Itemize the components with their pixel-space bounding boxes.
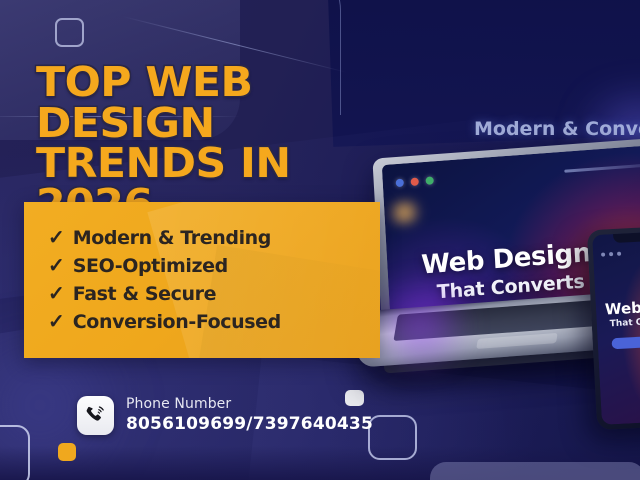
phone-screen-cta — [612, 335, 640, 349]
phone-screen-heading: Web De — [605, 297, 640, 318]
browser-dot-green — [425, 176, 433, 185]
phone-mockup: Web De That Conv — [587, 226, 640, 430]
decorative-square-outline-bottom-right-edge — [0, 425, 30, 480]
contact-block: Phone Number 8056109699/7397640435 — [77, 396, 373, 435]
check-icon: ✓ — [48, 284, 65, 304]
feature-label: Modern & Trending — [73, 229, 271, 249]
list-item: ✓ Conversion-Focused — [48, 312, 380, 333]
phone-screen: Web De That Conv — [592, 231, 640, 425]
clipped-banner-text: Modern & Conver — [474, 118, 640, 140]
headline: TOP WEB DESIGN TRENDS IN 2026 — [36, 62, 396, 224]
phone-dot-2 — [609, 252, 613, 256]
laptop-trackpad — [476, 333, 558, 349]
device-mockup-group: Modern & Conver Web Design That Converts… — [370, 100, 640, 430]
check-icon: ✓ — [48, 228, 65, 248]
decorative-square-outline-top-left — [55, 18, 84, 47]
feature-card: ✓ Modern & Trending ✓ SEO-Optimized ✓ Fa… — [24, 202, 380, 358]
contact-number: 8056109699/7397640435 — [126, 414, 373, 435]
decorative-square-yellow-bottom-left — [58, 443, 76, 461]
phone-notch — [613, 232, 640, 243]
feature-label: Fast & Secure — [73, 285, 216, 305]
check-icon: ✓ — [48, 256, 65, 276]
phone-dot-3 — [617, 252, 621, 256]
feature-label: Conversion-Focused — [73, 313, 281, 333]
phone-screen-subheading: That Conv — [610, 317, 640, 330]
phone-dot-1 — [601, 252, 605, 256]
list-item: ✓ Fast & Secure — [48, 284, 380, 305]
browser-dot-red — [411, 177, 419, 186]
decorative-rounded-panel-bottom-right — [430, 462, 640, 480]
phone-ringing-icon — [77, 396, 114, 435]
contact-label: Phone Number — [126, 396, 373, 414]
list-item: ✓ SEO-Optimized — [48, 256, 380, 277]
browser-nav-line — [564, 164, 640, 173]
check-icon: ✓ — [48, 312, 65, 332]
phone-browser-dots — [601, 252, 621, 257]
list-item: ✓ Modern & Trending — [48, 228, 380, 249]
promo-poster: Modern & Conver Web Design That Converts… — [0, 0, 640, 480]
contact-text-group: Phone Number 8056109699/7397640435 — [126, 396, 373, 435]
feature-label: SEO-Optimized — [73, 257, 228, 277]
headline-line-1: TOP WEB DESIGN — [36, 62, 410, 143]
feature-list: ✓ Modern & Trending ✓ SEO-Optimized ✓ Fa… — [24, 202, 380, 333]
